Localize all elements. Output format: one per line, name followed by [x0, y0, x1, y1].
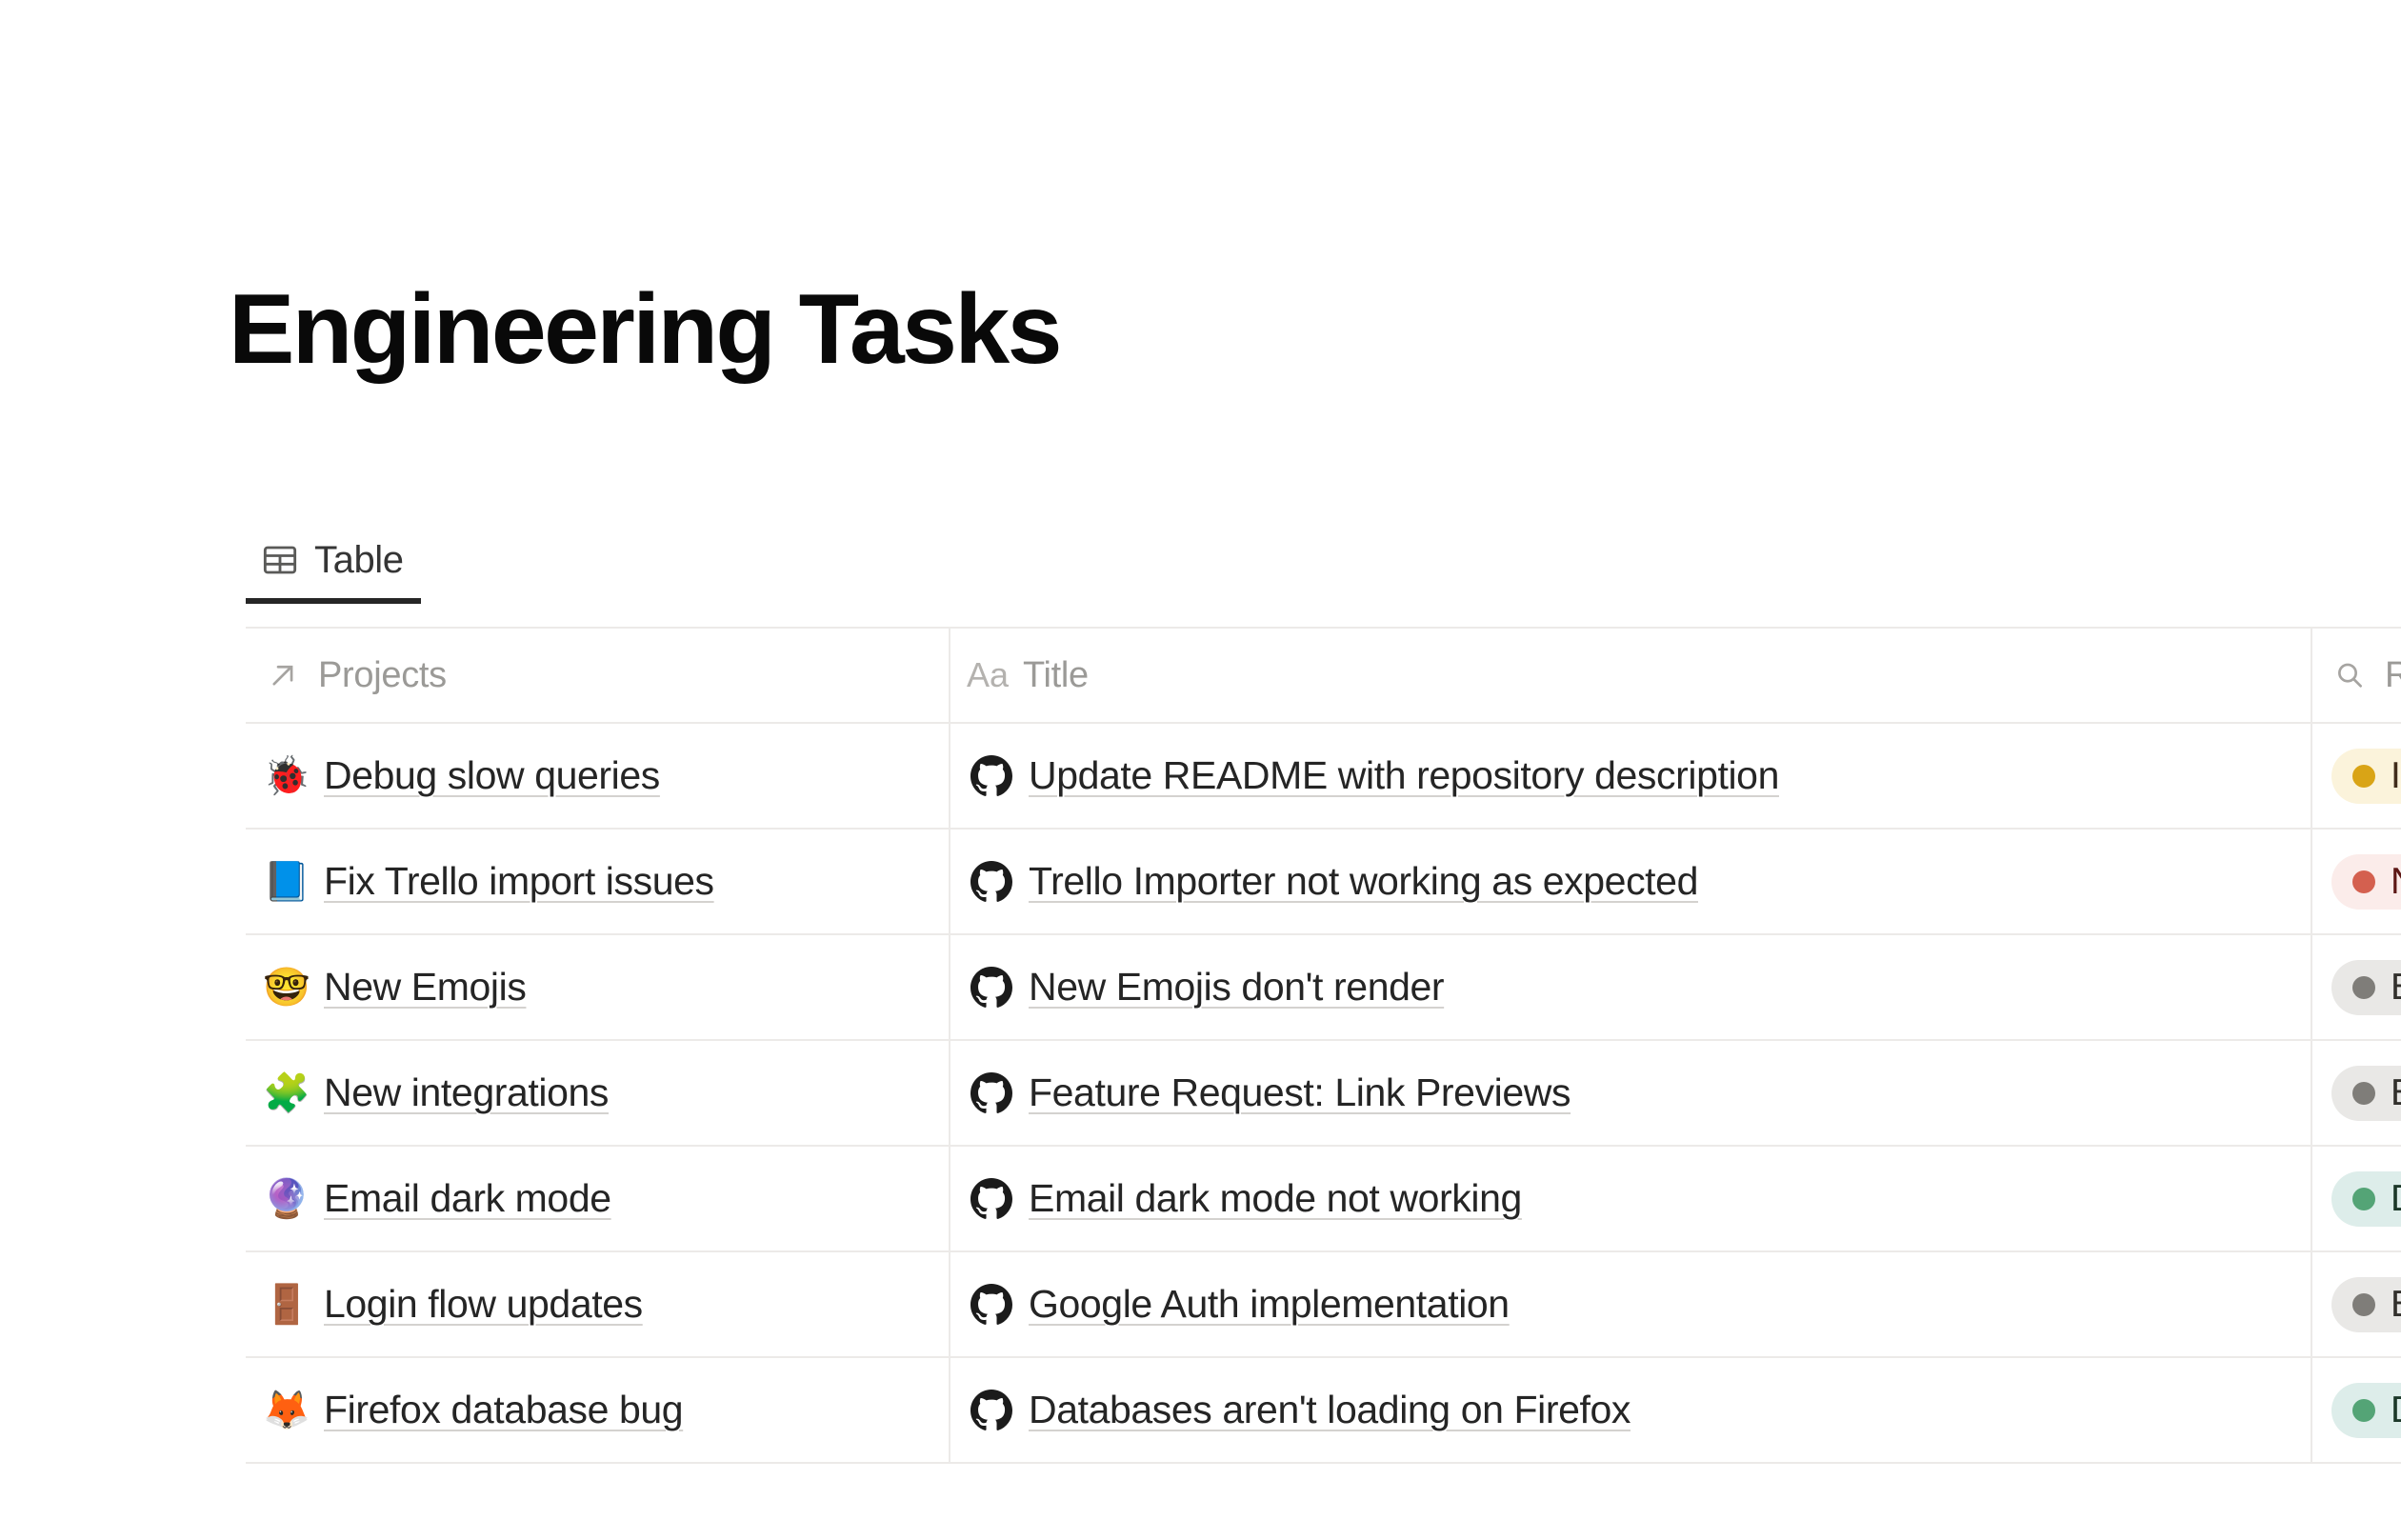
status-dot — [2352, 1293, 2375, 1316]
github-icon — [970, 1283, 1013, 1327]
door-emoji: 🚪 — [265, 1286, 309, 1324]
column-header-label-projects: Projects — [318, 655, 447, 696]
page-title: Engineering Tasks — [229, 274, 1060, 385]
column-header-rollup[interactable]: Rollup — [2311, 629, 2401, 722]
status-badge: Backlog — [2331, 1066, 2401, 1121]
table-header-row: Projects Aa Title Rollup — [246, 629, 2401, 724]
status-label: Backlog — [2391, 967, 2401, 1009]
github-icon — [970, 1177, 1013, 1221]
table-row: 🚪 Login flow updates Google Auth impleme… — [246, 1252, 2401, 1358]
issue-title-link[interactable]: Email dark mode not working — [1029, 1176, 1522, 1221]
status-badge: Backlog — [2331, 960, 2401, 1015]
github-icon — [970, 754, 1013, 798]
project-link[interactable]: Debug slow queries — [324, 753, 660, 798]
project-link[interactable]: Firefox database bug — [324, 1388, 683, 1432]
nerd-face-emoji: 🤓 — [265, 969, 309, 1007]
status-label: Backlog — [2391, 1284, 2401, 1326]
status-dot — [2352, 976, 2375, 999]
cell-rollup[interactable]: Not started — [2311, 830, 2401, 933]
cell-title[interactable]: Update README with repository descriptio… — [949, 724, 2311, 828]
table-row: 🧩 New integrations Feature Request: Link… — [246, 1041, 2401, 1147]
cell-rollup[interactable]: Backlog — [2311, 1041, 2401, 1145]
status-label: In progress — [2391, 755, 2401, 797]
relation-arrow-icon — [265, 657, 301, 693]
status-label: Backlog — [2391, 1072, 2401, 1114]
table-row: 🦊 Firefox database bug Databases aren't … — [246, 1358, 2401, 1464]
status-badge: Backlog — [2331, 1277, 2401, 1332]
issue-title-link[interactable]: Feature Request: Link Previews — [1029, 1070, 1571, 1115]
status-dot — [2352, 870, 2375, 893]
github-icon — [970, 1071, 1013, 1115]
project-link[interactable]: Email dark mode — [324, 1176, 611, 1221]
status-dot — [2352, 1399, 2375, 1422]
cell-title[interactable]: Trello Importer not working as expected — [949, 830, 2311, 933]
github-icon — [970, 966, 1013, 1010]
aa-text-icon: Aa — [970, 657, 1006, 693]
status-badge: Not started — [2331, 854, 2401, 910]
ladybug-emoji: 🐞 — [265, 757, 309, 795]
crystal-ball-emoji: 🔮 — [265, 1180, 309, 1218]
column-header-title[interactable]: Aa Title — [949, 629, 2311, 722]
cell-title[interactable]: New Emojis don't render — [949, 935, 2311, 1039]
cell-project[interactable]: 🧩 New integrations — [246, 1041, 949, 1145]
issue-title-link[interactable]: Google Auth implementation — [1029, 1282, 1510, 1327]
issue-title-link[interactable]: New Emojis don't render — [1029, 965, 1444, 1010]
table-row: 📘 Fix Trello import issues Trello Import… — [246, 830, 2401, 935]
view-tab-bar: Table — [246, 522, 421, 617]
cell-project[interactable]: 🐞 Debug slow queries — [246, 724, 949, 828]
issue-title-link[interactable]: Trello Importer not working as expected — [1029, 859, 1698, 904]
cell-project[interactable]: 🦊 Firefox database bug — [246, 1358, 949, 1462]
project-link[interactable]: New integrations — [324, 1070, 609, 1115]
table-icon — [261, 541, 299, 579]
cell-rollup[interactable]: Done — [2311, 1358, 2401, 1462]
status-dot — [2352, 765, 2375, 788]
issue-title-link[interactable]: Databases aren't loading on Firefox — [1029, 1388, 1631, 1432]
blue-book-emoji: 📘 — [265, 863, 309, 901]
cell-project[interactable]: 🚪 Login flow updates — [246, 1252, 949, 1356]
fox-emoji: 🦊 — [265, 1391, 309, 1430]
column-header-label-title: Title — [1023, 655, 1089, 696]
magnifier-icon — [2331, 657, 2368, 693]
github-icon — [970, 1389, 1013, 1432]
column-header-label-rollup: Rollup — [2385, 655, 2401, 696]
cell-project[interactable]: 📘 Fix Trello import issues — [246, 830, 949, 933]
database-table: Projects Aa Title Rollup — [246, 627, 2401, 1464]
notion-database-page: Engineering Tasks Table — [0, 0, 2401, 1540]
status-dot — [2352, 1188, 2375, 1210]
github-icon — [970, 860, 1013, 904]
cell-rollup[interactable]: Backlog — [2311, 1252, 2401, 1356]
cell-rollup[interactable]: In progress — [2311, 724, 2401, 828]
status-label: Done — [2391, 1390, 2401, 1431]
status-label: Done — [2391, 1178, 2401, 1220]
tab-table[interactable]: Table — [246, 522, 421, 604]
status-badge: In progress — [2331, 749, 2401, 804]
cell-title[interactable]: Email dark mode not working — [949, 1147, 2311, 1250]
project-link[interactable]: New Emojis — [324, 965, 526, 1010]
cell-title[interactable]: Feature Request: Link Previews — [949, 1041, 2311, 1145]
issue-title-link[interactable]: Update README with repository descriptio… — [1029, 753, 1779, 798]
project-link[interactable]: Login flow updates — [324, 1282, 643, 1327]
tab-label-table: Table — [314, 539, 404, 582]
status-badge: Done — [2331, 1383, 2401, 1438]
cell-title[interactable]: Google Auth implementation — [949, 1252, 2311, 1356]
status-badge: Done — [2331, 1171, 2401, 1227]
cell-project[interactable]: 🔮 Email dark mode — [246, 1147, 949, 1250]
cell-project[interactable]: 🤓 New Emojis — [246, 935, 949, 1039]
puzzle-piece-emoji: 🧩 — [265, 1074, 309, 1112]
column-header-projects[interactable]: Projects — [246, 629, 949, 722]
table-row: 🔮 Email dark mode Email dark mode not wo… — [246, 1147, 2401, 1252]
status-dot — [2352, 1082, 2375, 1105]
cell-rollup[interactable]: Backlog — [2311, 935, 2401, 1039]
table-row: 🤓 New Emojis New Emojis don't render Bac… — [246, 935, 2401, 1041]
table-row: 🐞 Debug slow queries Update README with … — [246, 724, 2401, 830]
project-link[interactable]: Fix Trello import issues — [324, 859, 714, 904]
cell-rollup[interactable]: Done — [2311, 1147, 2401, 1250]
status-label: Not started — [2391, 861, 2401, 903]
cell-title[interactable]: Databases aren't loading on Firefox — [949, 1358, 2311, 1462]
